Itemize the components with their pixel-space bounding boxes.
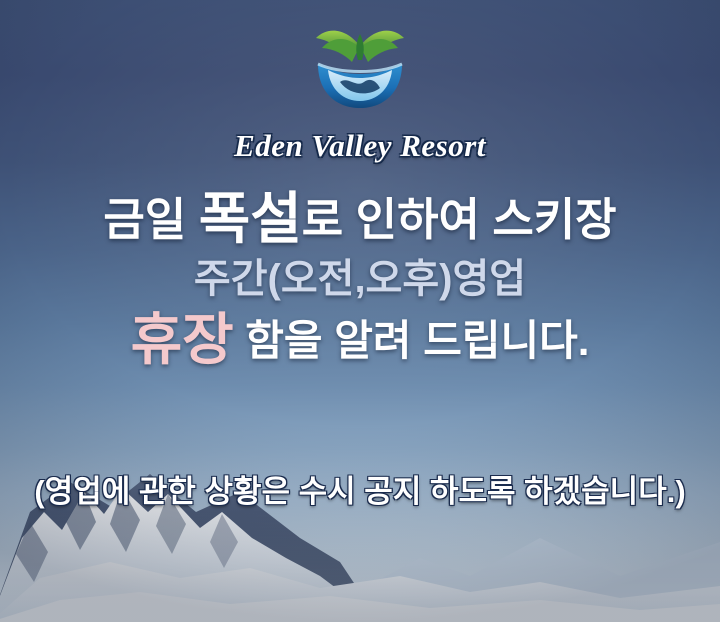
line1-prefix: 금일 xyxy=(103,194,198,245)
brand-name: Eden Valley Resort xyxy=(0,128,720,164)
line3-emphasis: 휴장 xyxy=(131,308,234,371)
message-line-3: 휴장 함을 알려 드립니다. xyxy=(0,307,720,374)
message-block: 금일 폭설로 인하여 스키장 주간(오전,오후)영업 휴장 함을 알려 드립니다… xyxy=(0,188,720,374)
line3-suffix: 함을 알려 드립니다. xyxy=(234,317,590,364)
message-line-2: 주간(오전,오후)영업 xyxy=(0,251,720,307)
announcement-poster: Eden Valley Resort 금일 폭설로 인하여 스키장 주간(오전,… xyxy=(0,0,720,622)
message-line-1: 금일 폭설로 인하여 스키장 xyxy=(0,188,720,251)
message-note: (영업에 관한 상황은 수시 공지 하도록 하겠습니다.) xyxy=(0,466,720,511)
line1-emphasis: 폭설 xyxy=(199,187,302,250)
line1-suffix: 로 인하여 스키장 xyxy=(302,194,617,245)
leaf-fountain-emblem-icon xyxy=(300,16,420,112)
logo-container xyxy=(0,16,720,117)
